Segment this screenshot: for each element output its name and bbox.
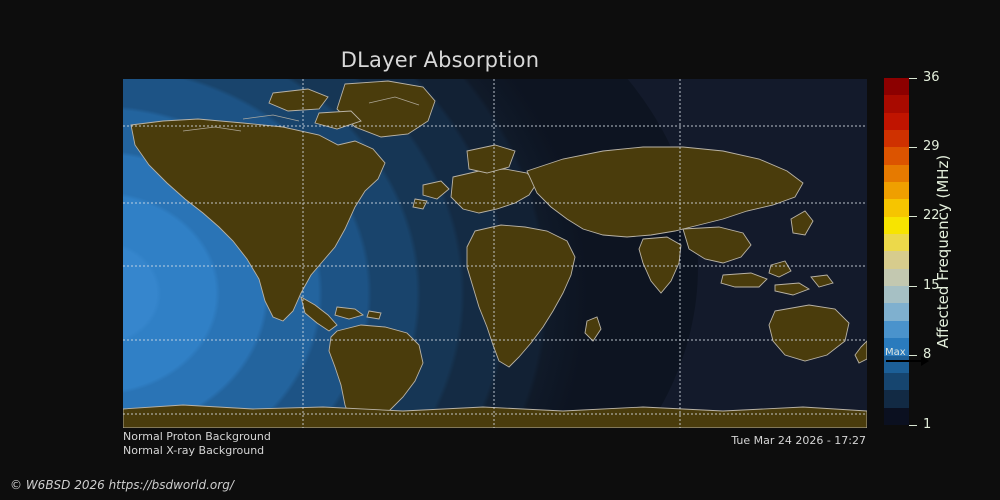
colorbar-tick-dash <box>909 147 917 148</box>
colorbar-segment <box>884 390 909 407</box>
colorbar-segment <box>884 286 909 303</box>
colorbar-segment <box>884 234 909 251</box>
colorbar-segment <box>884 251 909 268</box>
copyright-label: © W6BSD 2026 https://bsdworld.org/ <box>10 478 234 492</box>
colorbar-max-marker: Max <box>884 347 944 369</box>
colorbar-segment <box>884 182 909 199</box>
colorbar-segment <box>884 373 909 390</box>
colorbar-tick-dash <box>909 286 917 287</box>
map-canvas <box>123 79 867 428</box>
colorbar-segment <box>884 217 909 234</box>
xray-background-note: Normal X-ray Background <box>123 444 264 457</box>
colorbar-segment <box>884 321 909 338</box>
colorbar-axis-label: Affected Frequency (MHz) <box>934 78 962 425</box>
colorbar-segment <box>884 95 909 112</box>
colorbar-segment <box>884 303 909 320</box>
colorbar-segment <box>884 113 909 130</box>
colorbar[interactable] <box>884 78 909 425</box>
colorbar-tick-dash <box>909 425 917 426</box>
colorbar-tick-dash <box>909 216 917 217</box>
world-map[interactable] <box>123 79 867 428</box>
page-title: DLayer Absorption <box>0 48 880 72</box>
colorbar-segment <box>884 147 909 164</box>
proton-background-note: Normal Proton Background <box>123 430 271 443</box>
colorbar-segment <box>884 408 909 425</box>
colorbar-segment <box>884 199 909 216</box>
colorbar-segment <box>884 269 909 286</box>
max-marker-arrow-icon <box>886 360 922 362</box>
colorbar-segment <box>884 130 909 147</box>
timestamp-label: Tue Mar 24 2026 - 17:27 <box>731 434 866 447</box>
colorbar-tick-label: 1 <box>923 418 931 431</box>
dlayer-absorption-screenshot: DLayer Absorption <box>0 0 1000 500</box>
colorbar-segment <box>884 78 909 95</box>
colorbar-tick-dash <box>909 78 917 79</box>
max-marker-label: Max <box>885 347 906 358</box>
colorbar-segment <box>884 165 909 182</box>
